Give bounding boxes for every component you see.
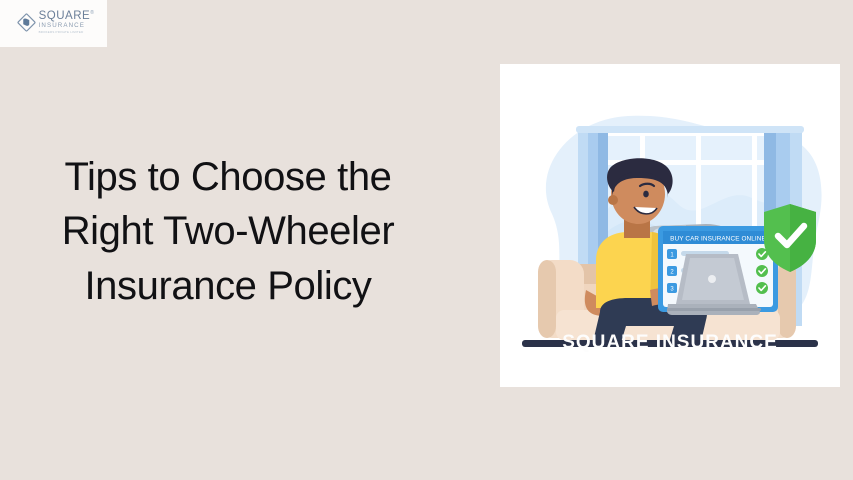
slide-canvas: SQUARE® INSURANCE BROKERS PRIVATE LIMITE… [0, 0, 853, 480]
insurance-illustration: BUY CAR INSURANCE ONLINE 1 2 3 [500, 64, 840, 387]
illustration-card: BUY CAR INSURANCE ONLINE 1 2 3 [500, 64, 840, 387]
page-title-line-3: Insurance Policy [28, 259, 428, 313]
brand-tagline: BROKERS PRIVATE LIMITED [39, 31, 95, 34]
page-title: Tips to Choose the Right Two-Wheeler Ins… [28, 150, 428, 313]
brand-subtitle: INSURANCE [39, 23, 95, 29]
tablet-header-text: BUY CAR INSURANCE ONLINE [670, 236, 766, 243]
brand-logo-text: SQUARE® INSURANCE BROKERS PRIVATE LIMITE… [39, 11, 95, 34]
registered-mark: ® [90, 10, 94, 16]
curtain-rod [576, 126, 804, 133]
floor-line [522, 340, 818, 347]
page-title-line-2: Right Two-Wheeler [28, 204, 428, 258]
square-diamond-logo-mark [17, 13, 36, 32]
brand-logo-card[interactable]: SQUARE® INSURANCE BROKERS PRIVATE LIMITE… [0, 0, 107, 47]
page-title-line-1: Tips to Choose the [28, 150, 428, 204]
brand-name: SQUARE® [39, 11, 95, 23]
brand-logo-inner: SQUARE® INSURANCE BROKERS PRIVATE LIMITE… [17, 11, 95, 34]
